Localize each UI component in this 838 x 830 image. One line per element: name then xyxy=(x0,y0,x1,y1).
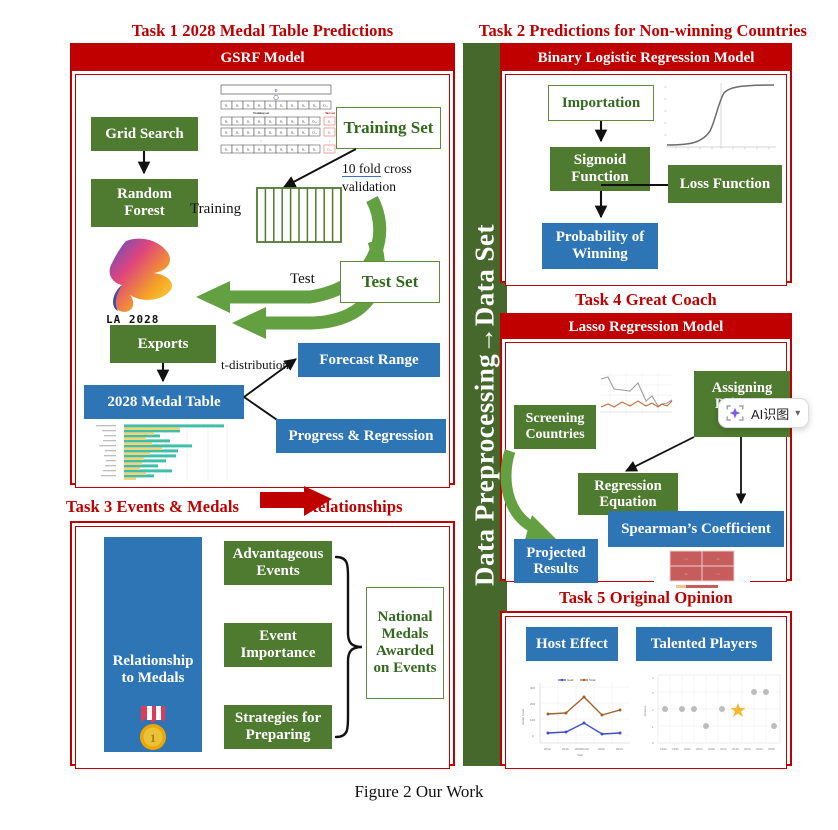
node-training-set[interactable]: Training Set xyxy=(336,107,441,149)
task1-panel-body: Grid Search Random Forest LA 2028 xyxy=(75,74,450,488)
task3-caption-left: Task 3 Events & Medals xyxy=(66,497,239,517)
sigmoid-curve-thumbnail xyxy=(654,79,780,155)
task4-panel-title: Lasso Regression Model xyxy=(502,315,790,339)
node-forecast-range[interactable]: Forecast Range xyxy=(298,343,440,377)
host-effect-line-chart-thumbnail: 300200 1000 20122016 2020(host)2020 2024… xyxy=(518,673,634,759)
node-host-effect[interactable]: Host Effect xyxy=(526,627,618,661)
svg-text:2024: 2024 xyxy=(616,747,623,751)
node-grid-search[interactable]: Grid Search xyxy=(91,117,198,151)
chevron-down-icon[interactable]: ▾ xyxy=(795,408,800,419)
annotation-test: Test xyxy=(290,271,315,288)
svg-text:D₁: D₁ xyxy=(225,104,229,108)
lasso-path-chart-thumbnail xyxy=(588,369,674,419)
svg-text:1: 1 xyxy=(150,731,156,745)
node-event-importance[interactable]: Event Importance xyxy=(224,623,332,667)
task1-panel: GSRF Model Grid Search Random Forest LA … xyxy=(70,43,455,485)
figure-caption: Figure 2 Our Work xyxy=(0,782,838,802)
task5-panel: Host Effect Talented Players 300200 1000… xyxy=(500,611,792,766)
node-test-set[interactable]: Test Set xyxy=(340,261,440,303)
svg-text:Test set: Test set xyxy=(325,111,336,115)
svg-text:2004: 2004 xyxy=(696,747,703,751)
svg-text:2028: 2028 xyxy=(768,747,775,751)
node-progress-regression[interactable]: Progress & Regression xyxy=(276,419,446,453)
svg-text:⋮: ⋮ xyxy=(259,139,263,144)
svg-text:.86: .86 xyxy=(684,572,688,576)
medal-icon: 1 xyxy=(132,704,174,752)
node-strategies-for-preparing[interactable]: Strategies for Preparing xyxy=(224,705,332,749)
svg-text:Total: Total xyxy=(589,678,596,682)
svg-text:D₅: D₅ xyxy=(269,104,273,108)
svg-text:300: 300 xyxy=(530,686,535,690)
data-preprocessing-band-label: Data Preprocessing→Data Set xyxy=(470,224,501,586)
task4-panel-body: Screening Countries Assigning Points to … xyxy=(505,342,787,582)
node-advantageous-events[interactable]: Advantageous Events xyxy=(224,541,332,585)
task2-panel: Binary Logistic Regression Model Importa… xyxy=(500,43,792,283)
task1-caption: Task 1 2028 Medal Table Predictions xyxy=(70,21,455,41)
svg-text:D₇: D₇ xyxy=(280,120,284,124)
node-2028-medal-table[interactable]: 2028 Medal Table xyxy=(84,385,244,419)
task4-caption: Task 4 Great Coach xyxy=(500,290,792,310)
node-national-medals-awarded[interactable]: National Medals Awarded on Events xyxy=(366,587,444,699)
svg-text:1.0: 1.0 xyxy=(684,557,688,561)
svg-text:D₁: D₁ xyxy=(225,148,229,152)
svg-text:D₁₀: D₁₀ xyxy=(312,120,318,124)
svg-text:medal count: medal count xyxy=(521,709,525,726)
ai-widget-label: AI识图 xyxy=(751,404,789,423)
node-projected-results[interactable]: Projected Results xyxy=(514,539,598,583)
task2-panel-body: Importation Sigmoid Function Loss Functi… xyxy=(505,74,787,286)
svg-text:D₅: D₅ xyxy=(258,120,262,124)
ai-recognize-image-widget[interactable]: AI识图 ▾ xyxy=(718,398,809,428)
svg-text:D₂: D₂ xyxy=(225,120,229,124)
correlation-heatmap-thumbnail: 1.0.86 .861.0 xyxy=(654,549,750,591)
svg-text:1.0: 1.0 xyxy=(716,572,720,576)
node-importation[interactable]: Importation xyxy=(548,85,654,121)
svg-text:2020(host): 2020(host) xyxy=(575,747,589,751)
svg-text:2016: 2016 xyxy=(732,747,739,751)
arrow-grid-to-forest xyxy=(136,151,154,179)
svg-text:athletes: athletes xyxy=(643,705,647,716)
arrow-assigning-to-spearman xyxy=(734,437,750,511)
svg-text:.86: .86 xyxy=(716,557,720,561)
arrow-sigmoid-loss-to-probability xyxy=(594,191,684,227)
medal-table-bar-chart-thumbnail xyxy=(90,423,230,483)
svg-text:D₁₀: D₁₀ xyxy=(312,131,318,135)
svg-text:D₁₀: D₁₀ xyxy=(323,104,329,108)
annotation-cross-validation-line1: 10 fold cross xyxy=(342,161,412,177)
task5-caption: Task 5 Original Opinion xyxy=(500,588,792,608)
svg-text:200: 200 xyxy=(530,702,535,706)
svg-text:D₁: D₁ xyxy=(328,120,332,124)
svg-text:1996: 1996 xyxy=(672,747,679,751)
svg-text:2024: 2024 xyxy=(756,747,763,751)
task5-panel-body: Host Effect Talented Players 300200 1000… xyxy=(505,616,787,769)
task2-panel-title: Binary Logistic Regression Model xyxy=(502,45,790,71)
node-exports[interactable]: Exports xyxy=(110,325,216,363)
node-spearmans-coefficient[interactable]: Spearman’s Coefficient xyxy=(608,511,784,547)
svg-text:2020: 2020 xyxy=(598,747,605,751)
annotation-training: Training xyxy=(190,201,241,218)
arrow-exports-to-medaltable xyxy=(156,363,172,387)
svg-text:D₅: D₅ xyxy=(258,131,262,135)
svg-text:D₁: D₁ xyxy=(225,131,229,135)
svg-text:Training set: Training set xyxy=(253,111,270,115)
svg-text:2008: 2008 xyxy=(708,747,715,751)
curly-brace xyxy=(334,553,366,741)
annotation-10fold: 10 fold xyxy=(342,161,381,177)
svg-text:D₂: D₂ xyxy=(236,104,240,108)
task1-panel-title: GSRF Model xyxy=(72,45,453,71)
node-probability-of-winning[interactable]: Probability of Winning xyxy=(542,223,658,269)
task3-panel-body: Relationship to Medals 1 Advantageous Ev… xyxy=(75,526,450,769)
svg-text:D₇: D₇ xyxy=(291,104,295,108)
node-loss-function[interactable]: Loss Function xyxy=(668,165,782,203)
svg-text:D₅: D₅ xyxy=(269,148,273,152)
svg-text:D: D xyxy=(275,88,278,93)
svg-text:2016: 2016 xyxy=(562,747,569,751)
svg-text:D₂: D₂ xyxy=(236,148,240,152)
svg-text:2012: 2012 xyxy=(544,747,551,751)
annotation-cross: cross xyxy=(381,161,412,176)
svg-text:⋮: ⋮ xyxy=(328,139,332,144)
node-talented-players[interactable]: Talented Players xyxy=(636,627,772,661)
task3-panel: Relationship to Medals 1 Advantageous Ev… xyxy=(70,521,455,766)
svg-text:100: 100 xyxy=(530,718,535,722)
svg-text:D₇: D₇ xyxy=(280,131,284,135)
svg-text:D₂: D₂ xyxy=(328,131,332,135)
sparkle-icon xyxy=(725,403,745,423)
arrow-importation-to-sigmoid xyxy=(594,121,610,147)
svg-text:Gold: Gold xyxy=(567,678,574,682)
task3-caption-right: Relationships xyxy=(306,497,403,517)
task2-caption: Task 2 Predictions for Non-winning Count… xyxy=(448,21,838,41)
svg-text:2012: 2012 xyxy=(720,747,727,751)
talented-players-scatter-thumbnail: 43 210 19921996 20002004 20082012 201620… xyxy=(638,669,784,761)
task4-panel: Lasso Regression Model Screening Countri… xyxy=(500,313,792,581)
svg-text:Year: Year xyxy=(577,753,583,757)
svg-text:2020: 2020 xyxy=(744,747,751,751)
svg-text:2000: 2000 xyxy=(684,747,691,751)
svg-text:1992: 1992 xyxy=(660,747,667,751)
